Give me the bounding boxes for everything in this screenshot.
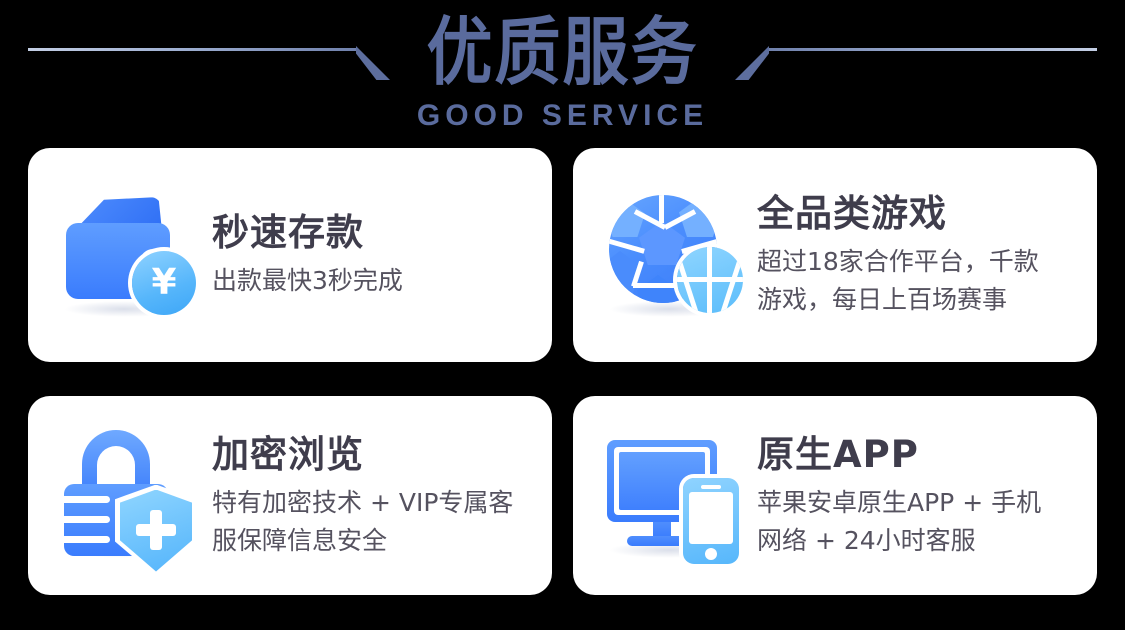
monitor-with-phone-icon — [601, 426, 751, 566]
feature-card-encrypted-browsing[interactable]: 加密浏览 特有加密技术 + VIP专属客 服保障信息安全 — [28, 396, 552, 595]
card-subtitle-line: 游戏，每日上百场赛事 — [757, 281, 1079, 319]
card-subtitle-line: 超过18家合作平台，千款 — [757, 243, 1079, 281]
basketball-shape — [677, 247, 743, 313]
card-subtitle-line: 苹果安卓原生APP + 手机 — [757, 484, 1079, 522]
card-subtitle-line: 出款最快3秒完成 — [212, 262, 534, 300]
card-title: 加密浏览 — [212, 432, 534, 478]
page-title: 优质服务 — [0, 8, 1125, 98]
card-subtitle: 苹果安卓原生APP + 手机 网络 + 24小时客服 — [757, 484, 1079, 560]
wallet-with-yuan-coin-icon: ¥ — [56, 185, 206, 325]
card-subtitle: 出款最快3秒完成 — [212, 262, 534, 300]
card-body: 原生APP 苹果安卓原生APP + 手机 网络 + 24小时客服 — [757, 432, 1097, 560]
card-body: 加密浏览 特有加密技术 + VIP专属客 服保障信息安全 — [212, 432, 552, 560]
plus-icon-horizontal — [136, 524, 176, 536]
card-subtitle-line: 特有加密技术 + VIP专属客 — [212, 484, 534, 522]
soccer-ball-with-basketball-icon — [601, 185, 751, 325]
card-subtitle-line: 服保障信息安全 — [212, 522, 534, 560]
phone-home-button-icon — [705, 548, 717, 560]
card-title: 全品类游戏 — [757, 191, 1079, 237]
phone-screen-shape — [689, 492, 733, 544]
phone-speaker-shape — [701, 485, 721, 489]
card-subtitle: 特有加密技术 + VIP专属客 服保障信息安全 — [212, 484, 534, 560]
card-body: 秒速存款 出款最快3秒完成 — [212, 210, 552, 300]
card-title: 秒速存款 — [212, 210, 534, 256]
feature-card-all-games[interactable]: 全品类游戏 超过18家合作平台，千款 游戏，每日上百场赛事 — [573, 148, 1097, 362]
header: 优质服务 GOOD SERVICE — [0, 0, 1125, 140]
padlock-with-shield-icon — [56, 426, 206, 566]
card-subtitle-line: 网络 + 24小时客服 — [757, 522, 1079, 560]
feature-card-native-app[interactable]: 原生APP 苹果安卓原生APP + 手机 网络 + 24小时客服 — [573, 396, 1097, 595]
card-title: 原生APP — [757, 432, 1079, 478]
feature-card-grid: ¥ 秒速存款 出款最快3秒完成 — [28, 148, 1097, 595]
page-subtitle: GOOD SERVICE — [0, 98, 1125, 134]
promo-banner: 优质服务 GOOD SERVICE ¥ 秒速存款 出款最快3秒完成 — [0, 0, 1125, 630]
feature-card-instant-deposit[interactable]: ¥ 秒速存款 出款最快3秒完成 — [28, 148, 552, 362]
card-subtitle: 超过18家合作平台，千款 游戏，每日上百场赛事 — [757, 243, 1079, 319]
card-body: 全品类游戏 超过18家合作平台，千款 游戏，每日上百场赛事 — [757, 191, 1097, 319]
yuan-coin-icon: ¥ — [132, 251, 196, 315]
